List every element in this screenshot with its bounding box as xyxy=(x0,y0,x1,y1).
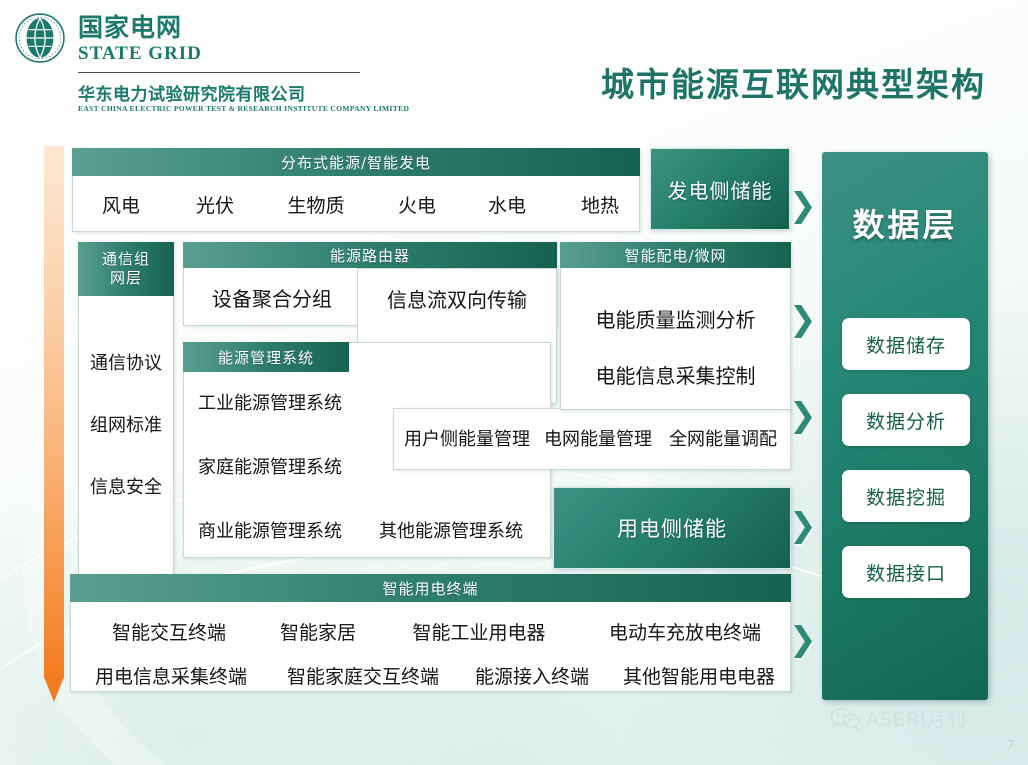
brand-wordmark: 国家电网 STATE GRID xyxy=(78,14,202,65)
terminal-row2-item-1[interactable]: 智能家庭交互终端 xyxy=(264,654,462,696)
communication-caption: 通信组 网层 xyxy=(78,242,174,296)
ems-item-2[interactable]: 商业能源管理系统 xyxy=(187,508,353,552)
energy-router-item-aggregation[interactable]: 设备聚合分组 xyxy=(187,272,357,322)
flow-arrow-orange xyxy=(44,146,64,702)
data-layer-title: 数据层 xyxy=(822,200,988,246)
generation-item-0[interactable]: 风电 xyxy=(76,180,166,228)
load-side-storage-block[interactable]: 用电侧储能 xyxy=(553,487,791,569)
energy-management-item-2[interactable]: 全网能量调配 xyxy=(659,410,787,466)
logo-divider xyxy=(78,72,360,73)
terminal-row1-item-3[interactable]: 电动车充放电终端 xyxy=(582,610,788,652)
microgrid-item-0[interactable]: 电能质量监测分析 xyxy=(562,296,789,340)
communication-item-1[interactable]: 组网标准 xyxy=(78,402,174,446)
wechat-label: ASERI月刊 xyxy=(866,705,967,732)
brand-name-cn: 国家电网 xyxy=(78,14,202,42)
terminals-caption: 智能用电终端 xyxy=(70,574,791,602)
data-layer-panel: 数据层 数据储存 数据分析 数据挖掘 数据接口 xyxy=(822,152,988,700)
institute-name-cn: 华东电力试验研究院有限公司 xyxy=(78,80,306,105)
ems-caption: 能源管理系统 xyxy=(183,342,349,372)
state-grid-logo-icon xyxy=(14,12,66,64)
wechat-icon xyxy=(830,707,860,731)
data-layer-button-mining[interactable]: 数据挖掘 xyxy=(842,470,970,522)
institute-name-en: EAST CHINA ELECTRIC POWER TEST & RESEARC… xyxy=(78,104,409,113)
flow-arrow-head xyxy=(44,677,64,702)
wechat-watermark: ASERI月刊 xyxy=(830,705,967,732)
terminal-row1-item-0[interactable]: 智能交互终端 xyxy=(74,610,264,652)
generation-item-4[interactable]: 水电 xyxy=(462,180,552,228)
ems-item-0[interactable]: 工业能源管理系统 xyxy=(187,380,353,424)
terminal-row2-item-3[interactable]: 其他智能用电电器 xyxy=(608,654,790,696)
communication-caption-line1: 通信组 xyxy=(102,250,150,269)
communication-item-0[interactable]: 通信协议 xyxy=(78,340,174,384)
communication-caption-line2: 网层 xyxy=(110,269,142,288)
generation-item-3[interactable]: 火电 xyxy=(372,180,462,228)
data-layer-button-interface[interactable]: 数据接口 xyxy=(842,546,970,598)
energy-router-caption: 能源路由器 xyxy=(183,242,557,268)
chevron-right-icon-4: ❯ xyxy=(789,622,813,656)
terminal-row2-item-2[interactable]: 能源接入终端 xyxy=(456,654,608,696)
slide-canvas: 国家电网 STATE GRID 华东电力试验研究院有限公司 EAST CHINA… xyxy=(0,0,1028,765)
ems-item-1[interactable]: 家庭能源管理系统 xyxy=(187,444,353,488)
terminal-row1-item-1[interactable]: 智能家居 xyxy=(252,610,384,652)
chevron-right-icon-0: ❯ xyxy=(789,188,813,222)
chevron-right-icon-1: ❯ xyxy=(789,302,813,336)
ems-item-other[interactable]: 其他能源管理系统 xyxy=(358,508,544,552)
data-layer-button-storage[interactable]: 数据储存 xyxy=(842,318,970,370)
flow-arrow-shaft xyxy=(44,146,64,678)
generation-side-storage-block[interactable]: 发电侧储能 xyxy=(650,148,790,230)
generation-item-1[interactable]: 光伏 xyxy=(170,180,260,228)
terminal-row2-item-0[interactable]: 用电信息采集终端 xyxy=(72,654,270,696)
chevron-right-icon-2: ❯ xyxy=(789,398,813,432)
generation-item-5[interactable]: 地热 xyxy=(556,180,644,228)
page-title: 城市能源互联网典型架构 xyxy=(601,58,986,106)
communication-item-2[interactable]: 信息安全 xyxy=(78,464,174,508)
brand-name-en: STATE GRID xyxy=(78,43,202,65)
microgrid-item-1[interactable]: 电能信息采集控制 xyxy=(562,352,789,396)
terminal-row1-item-2[interactable]: 智能工业用电器 xyxy=(384,610,574,652)
data-layer-button-analysis[interactable]: 数据分析 xyxy=(842,394,970,446)
page-number: 7 xyxy=(1007,738,1014,754)
router-flow-item-0[interactable]: 信息流双向传输 xyxy=(357,272,557,324)
microgrid-caption: 智能配电/微网 xyxy=(560,242,791,268)
generation-item-2[interactable]: 生物质 xyxy=(262,180,370,228)
brand-logo-block: 国家电网 STATE GRID 华东电力试验研究院有限公司 EAST CHINA… xyxy=(12,8,362,123)
generation-caption: 分布式能源/智能发电 xyxy=(72,148,640,176)
energy-management-item-1[interactable]: 电网能量管理 xyxy=(535,410,661,466)
energy-management-item-0[interactable]: 用户侧能量管理 xyxy=(397,410,537,466)
chevron-right-icon-3: ❯ xyxy=(789,508,813,542)
